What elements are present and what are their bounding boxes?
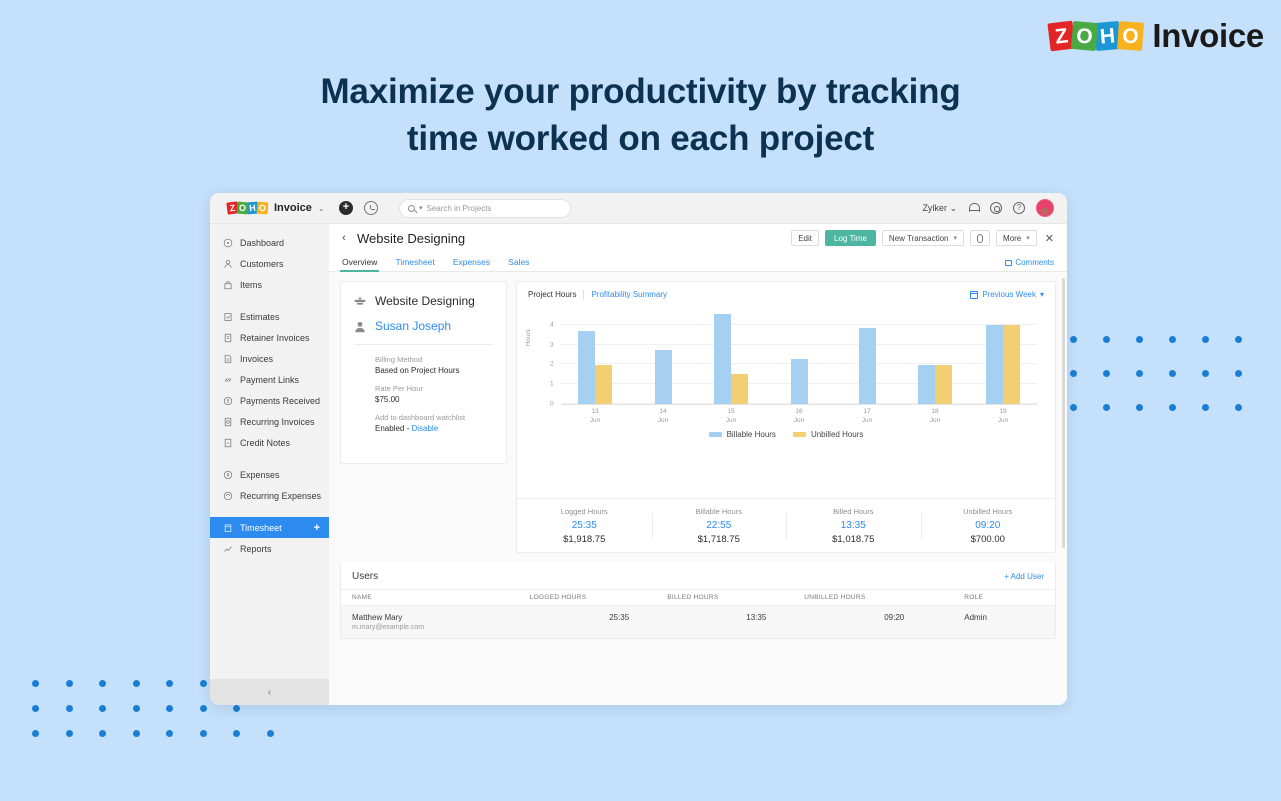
sidebar-item-items[interactable]: Items (210, 274, 329, 295)
decorative-dot (233, 730, 240, 737)
users-column-header[interactable]: ROLE (942, 590, 1055, 606)
field-rate-per-hour: Rate Per Hour $75.00 (354, 384, 493, 404)
decorative-dot (32, 680, 39, 687)
app-logo-word: Invoice (274, 202, 312, 214)
chart-bars-plot: 01234 (561, 313, 1037, 405)
users-table-header-row: NAMELOGGED HOURSBILLED HOURSUNBILLED HOU… (341, 590, 1055, 606)
chart-y-tick: 3 (550, 341, 554, 348)
field-dashboard-watchlist: Add to dashboard watchlist Enabled - Dis… (354, 413, 493, 433)
sidebar: DashboardCustomersItemsEstimatesRetainer… (210, 224, 329, 705)
watchlist-state: Enabled - (375, 424, 411, 433)
more-label: More (1003, 234, 1021, 243)
chart-x-tick: 15Jun (697, 408, 765, 426)
chart-x-tick-day: 16 (795, 408, 802, 415)
logo-tile-o1: O (1071, 21, 1098, 51)
chart-bar-group (561, 313, 629, 404)
chart-bar-group (629, 313, 697, 404)
customers-icon (223, 259, 233, 269)
main-panel: ‹ Website Designing Edit Log Time New Tr… (329, 224, 1067, 705)
help-icon[interactable]: ? (1013, 202, 1025, 214)
decorative-dot (99, 705, 106, 712)
sidebar-item-label: Recurring Expenses (240, 491, 321, 501)
tab-expenses[interactable]: Expenses (453, 257, 490, 271)
sidebar-group-gap (210, 506, 329, 517)
decorative-dot (66, 705, 73, 712)
chart-bar-billable (986, 325, 1003, 404)
chart-y-tick: 2 (550, 361, 554, 368)
gear-icon[interactable] (990, 202, 1002, 214)
sidebar-item-label: Customers (240, 259, 284, 269)
field-label: Add to dashboard watchlist (375, 413, 493, 422)
stat-amount: $1,918.75 (517, 534, 652, 545)
payments-received-icon (223, 396, 233, 406)
chart-x-tick-day: 13 (591, 408, 598, 415)
chart-plot-area: Hours 01234 13Jun14Jun15Jun16Jun17Jun18J… (517, 299, 1055, 498)
stat-hours: 22:55 (652, 520, 787, 531)
decorative-dot (133, 680, 140, 687)
chart-legend-item[interactable]: Billable Hours (709, 430, 776, 439)
decorative-dot (267, 730, 274, 737)
decorative-dot (32, 705, 39, 712)
chart-y-tick: 1 (550, 381, 554, 388)
chart-x-tick: 13Jun (561, 408, 629, 426)
decorative-dot (200, 730, 207, 737)
chart-bar-group (697, 313, 765, 404)
decorative-dot (166, 680, 173, 687)
stat-amount: $1,718.75 (652, 534, 787, 545)
sidebar-item-label: Credit Notes (240, 438, 290, 448)
decorative-dot (1070, 370, 1077, 377)
add-user-button[interactable]: + Add User (1004, 572, 1044, 581)
decorative-dot (200, 705, 207, 712)
chart-bar-unbilled (1003, 325, 1020, 404)
sidebar-item-label: Dashboard (240, 238, 284, 248)
decorative-dot (66, 730, 73, 737)
decorative-dot (1169, 370, 1176, 377)
chart-x-tick-month: Jun (794, 417, 804, 424)
credit-notes-icon (223, 438, 233, 448)
invoices-icon (223, 354, 233, 364)
sidebar-item-label: Estimates (240, 312, 280, 322)
sidebar-item-estimates[interactable]: Estimates (210, 306, 329, 327)
sidebar-collapse-button[interactable]: ‹ (210, 679, 329, 705)
chart-x-tick-month: Jun (862, 417, 872, 424)
chart-x-tick-day: 19 (999, 408, 1006, 415)
users-column-header[interactable]: BILLED HOURS (667, 590, 804, 606)
sidebar-group-gap (210, 295, 329, 306)
chart-x-tick-day: 18 (931, 408, 938, 415)
zoho-invoice-logo: Z O H O Invoice (1049, 17, 1264, 55)
sidebar-item-label: Reports (240, 544, 272, 554)
chart-y-tick: 4 (550, 321, 554, 328)
chart-x-tick: 19Jun (969, 408, 1037, 426)
chart-bar-unbilled (595, 365, 612, 404)
customer-name-link[interactable]: Susan Joseph (375, 319, 451, 333)
avatar[interactable] (1036, 199, 1054, 217)
users-column-header[interactable]: NAME (341, 590, 530, 606)
chart-x-tick-day: 14 (659, 408, 666, 415)
overview-content: Website Designing Susan Joseph Billing (329, 272, 1067, 705)
chart-x-tick-day: 17 (863, 408, 870, 415)
decorative-dot (1103, 404, 1110, 411)
stat-logged-hours: Logged Hours25:35$1,918.75 (517, 507, 652, 545)
decorative-dot (1202, 370, 1209, 377)
stat-hours: 09:20 (921, 520, 1056, 531)
stat-label: Logged Hours (517, 507, 652, 516)
chart-x-tick: 17Jun (833, 408, 901, 426)
person-icon (354, 320, 366, 333)
decorative-dot (133, 705, 140, 712)
chart-y-tick: 0 (550, 401, 554, 408)
sidebar-item-invoices[interactable]: Invoices (210, 348, 329, 369)
comments-link[interactable]: Comments (1005, 258, 1054, 271)
brand-product-name: Invoice (1152, 17, 1264, 55)
headline-line-1: Maximize your productivity by tracking (320, 72, 960, 111)
stat-amount: $1,018.75 (786, 534, 921, 545)
chart-x-axis-labels: 13Jun14Jun15Jun16Jun17Jun18Jun19Jun (561, 408, 1037, 426)
sidebar-item-reports[interactable]: Reports (210, 538, 329, 559)
decorative-dot (1202, 404, 1209, 411)
estimates-icon (223, 312, 233, 322)
users-header: Users + Add User (341, 562, 1055, 589)
app-body: DashboardCustomersItemsEstimatesRetainer… (210, 224, 1067, 705)
decorative-dot (1169, 404, 1176, 411)
chart-bar-unbilled (731, 374, 748, 404)
chevron-down-icon: ▾ (1026, 234, 1030, 242)
logo-tile-o2: O (1117, 21, 1144, 51)
legend-label: Unbilled Hours (811, 430, 863, 439)
sidebar-item-label: Recurring Invoices (240, 417, 315, 427)
poster-canvas: Z O H O Invoice Maximize your productivi… (0, 0, 1281, 801)
recurring-expenses-icon (223, 491, 233, 501)
detail-header: ‹ Website Designing Edit Log Time New Tr… (329, 224, 1067, 252)
chart-bar-billable (918, 365, 935, 404)
sidebar-item-recurring-invoices[interactable]: Recurring Invoices (210, 411, 329, 432)
stat-label: Unbilled Hours (921, 507, 1056, 516)
chart-bar-billable (859, 328, 876, 404)
chart-x-tick: 14Jun (629, 408, 697, 426)
stat-label: Billed Hours (786, 507, 921, 516)
project-name: Website Designing (375, 294, 475, 308)
chart-bar-groups (561, 313, 1037, 404)
decorative-dot (1136, 404, 1143, 411)
search-placeholder: Search in Projects (427, 204, 492, 213)
detail-tabs: OverviewTimesheetExpensesSales Comments (329, 252, 1067, 272)
sidebar-item-label: Expenses (240, 470, 280, 480)
headline-line-2: time worked on each project (0, 115, 1281, 162)
scrollbar[interactable] (1062, 278, 1065, 548)
decorative-dot (1169, 336, 1176, 343)
project-hours-chart-card: Project Hours Profitability Summary Prev… (516, 281, 1056, 553)
search-icon (408, 205, 415, 212)
payment-links-icon (223, 375, 233, 385)
chart-tab-project-hours[interactable]: Project Hours (528, 290, 576, 299)
sidebar-item-retainer-invoices[interactable]: Retainer Invoices (210, 327, 329, 348)
page-title: Website Designing (357, 231, 465, 246)
field-label: Rate Per Hour (375, 384, 493, 393)
detail-header-buttons: Edit Log Time New Transaction ▾ More ▾ ✕ (791, 230, 1054, 246)
divider (354, 344, 493, 345)
field-label: Billing Method (375, 355, 493, 364)
week-selector[interactable]: Previous Week ▾ (970, 290, 1044, 299)
comments-label: Comments (1015, 258, 1054, 267)
project-name-row: Website Designing (354, 294, 493, 308)
chevron-down-icon: ▾ (1040, 290, 1044, 299)
timesheet-icon (223, 523, 233, 533)
tab-sales[interactable]: Sales (508, 257, 529, 271)
users-column-header[interactable]: UNBILLED HOURS (804, 590, 942, 606)
stat-unbilled-hours: Unbilled Hours09:20$700.00 (921, 507, 1056, 545)
log-time-button[interactable]: Log Time (825, 230, 876, 246)
stat-hours: 25:35 (517, 520, 652, 531)
retainer-invoices-icon (223, 333, 233, 343)
search-input[interactable]: ▾ Search in Projects (399, 199, 571, 218)
chart-x-tick-month: Jun (590, 417, 600, 424)
plus-circle-icon[interactable]: + (339, 201, 353, 215)
decorative-dot (1235, 336, 1242, 343)
app-logo-tiles: Z O H O (227, 202, 268, 214)
chart-bar-billable (791, 359, 808, 405)
project-info-card: Website Designing Susan Joseph Billing (340, 281, 507, 464)
chart-header: Project Hours Profitability Summary Prev… (517, 282, 1055, 299)
decorative-dot (166, 730, 173, 737)
zoho-logo-tiles: Z O H O (1049, 22, 1143, 50)
chevron-down-icon: ▾ (954, 234, 958, 242)
decorative-dot (1136, 370, 1143, 377)
close-icon[interactable]: ✕ (1045, 232, 1054, 245)
chart-y-axis-label: Hours (526, 329, 532, 346)
decorative-dot (32, 730, 39, 737)
sidebar-item-timesheet[interactable]: Timesheet+ (210, 517, 329, 538)
sidebar-item-label: Retainer Invoices (240, 333, 310, 343)
decorative-dot (99, 730, 106, 737)
users-title: Users (352, 571, 378, 582)
chart-x-tick-month: Jun (930, 417, 940, 424)
table-row[interactable]: Matthew Marym.mary@example.com25:3513:35… (341, 606, 1055, 639)
stat-billable-hours: Billable Hours22:55$1,718.75 (652, 507, 787, 545)
week-selector-label: Previous Week (982, 290, 1036, 299)
sidebar-nav-list: DashboardCustomersItemsEstimatesRetainer… (210, 224, 329, 679)
field-value: Based on Project Hours (375, 366, 493, 375)
users-table: NAMELOGGED HOURSBILLED HOURSUNBILLED HOU… (341, 589, 1055, 638)
chart-bar-billable (578, 331, 595, 404)
sidebar-item-payment-links[interactable]: Payment Links (210, 369, 329, 390)
decorative-dot (1202, 336, 1209, 343)
topbar-right: Zylker ⌄ ? (922, 199, 1067, 217)
chart-x-tick-month: Jun (998, 417, 1008, 424)
project-customer-row: Susan Joseph (354, 319, 493, 333)
sidebar-group-gap (210, 453, 329, 464)
app-window-screenshot: Z O H O Invoice ⌄ + ▾ Search in Projects (210, 193, 1067, 705)
dashboard-icon (223, 238, 233, 248)
stat-hours: 13:35 (786, 520, 921, 531)
reports-icon (223, 544, 233, 554)
divider (583, 290, 584, 299)
decorative-dot (1103, 336, 1110, 343)
legend-swatch (709, 432, 722, 437)
chart-legend-item[interactable]: Unbilled Hours (793, 430, 863, 439)
items-icon (223, 280, 233, 290)
chart-bar-group (833, 313, 901, 404)
sidebar-item-dashboard[interactable]: Dashboard (210, 232, 329, 253)
decorative-dot (200, 680, 207, 687)
app-topbar: Z O H O Invoice ⌄ + ▾ Search in Projects (210, 193, 1067, 224)
sidebar-item-label: Invoices (240, 354, 273, 364)
more-button[interactable]: More ▾ (996, 230, 1037, 246)
chart-x-tick-day: 15 (727, 408, 734, 415)
field-billing-method: Billing Method Based on Project Hours (354, 355, 493, 375)
search-scope-caret-icon[interactable]: ▾ (419, 204, 423, 212)
chart-x-tick-month: Jun (658, 417, 668, 424)
back-icon[interactable]: ‹ (338, 232, 350, 244)
decorative-dot (1235, 404, 1242, 411)
legend-swatch (793, 432, 806, 437)
new-transaction-label: New Transaction (889, 234, 949, 243)
sidebar-item-label: Timesheet (240, 523, 282, 533)
decorative-dot (233, 705, 240, 712)
chart-bar-group (901, 313, 969, 404)
clock-history-icon[interactable] (364, 201, 378, 215)
chart-bar-unbilled (935, 365, 952, 404)
chart-bar-group (969, 313, 1037, 404)
sidebar-item-label: Items (240, 280, 262, 290)
attachment-button[interactable] (970, 230, 990, 246)
decorative-dot (133, 730, 140, 737)
users-table-body: Matthew Marym.mary@example.com25:3513:35… (341, 606, 1055, 639)
sidebar-item-customers[interactable]: Customers (210, 253, 329, 274)
decorative-dot (1136, 336, 1143, 343)
chart-bar-group (765, 313, 833, 404)
sidebar-item-expenses[interactable]: Expenses (210, 464, 329, 485)
sidebar-item-payments-received[interactable]: Payments Received (210, 390, 329, 411)
app-logo-tile-o1: O (236, 202, 248, 215)
user-unbilled-hours: 09:20 (804, 606, 942, 639)
stat-label: Billable Hours (652, 507, 787, 516)
bell-icon[interactable] (968, 202, 979, 214)
sidebar-item-credit-notes[interactable]: Credit Notes (210, 432, 329, 453)
chart-bar-billable (655, 350, 672, 404)
sidebar-item-recurring-expenses[interactable]: Recurring Expenses (210, 485, 329, 506)
user-email: m.mary@example.com (352, 624, 530, 631)
decorative-dot (166, 705, 173, 712)
sidebar-add-timesheet-icon[interactable]: + (314, 522, 320, 534)
overview-cards: Website Designing Susan Joseph Billing (340, 281, 1056, 553)
expenses-icon (223, 470, 233, 480)
chevron-down-icon[interactable]: ⌄ (318, 204, 325, 213)
chart-tab-profitability-summary[interactable]: Profitability Summary (591, 290, 667, 299)
project-icon (354, 295, 366, 307)
user-name-cell: Matthew Marym.mary@example.com (341, 606, 530, 639)
new-transaction-button[interactable]: New Transaction ▾ (882, 230, 964, 246)
tab-timesheet[interactable]: Timesheet (395, 257, 434, 271)
chart-legend: Billable HoursUnbilled Hours (535, 426, 1037, 447)
edit-button[interactable]: Edit (791, 230, 819, 246)
sidebar-item-label: Payment Links (240, 375, 299, 385)
chart-bar-billable (714, 314, 731, 404)
decorative-dot (1103, 370, 1110, 377)
stat-amount: $700.00 (921, 534, 1056, 545)
decorative-dot (1070, 336, 1077, 343)
user-billed-hours: 13:35 (667, 606, 804, 639)
sidebar-item-label: Payments Received (240, 396, 320, 406)
users-section: Users + Add User NAMELOGGED HOURSBILLED … (340, 562, 1056, 639)
decorative-dots-right (1070, 336, 1270, 416)
user-role: Admin (942, 606, 1055, 639)
user-logged-hours: 25:35 (530, 606, 668, 639)
hours-summary-stats: Logged Hours25:35$1,918.75Billable Hours… (517, 498, 1055, 552)
page-headline: Maximize your productivity by tracking t… (0, 68, 1281, 163)
decorative-dot (1235, 370, 1242, 377)
users-column-header[interactable]: LOGGED HOURS (530, 590, 668, 606)
attachment-icon (977, 234, 983, 243)
tab-overview[interactable]: Overview (342, 257, 377, 271)
user-name: Matthew Mary (352, 613, 530, 622)
field-value: Enabled - Disable (375, 424, 493, 433)
chart-x-tick-month: Jun (726, 417, 736, 424)
org-switcher[interactable]: Zylker ⌄ (922, 203, 957, 214)
watchlist-disable-link[interactable]: Disable (411, 424, 438, 433)
app-logo-tile-o2: O (257, 202, 269, 215)
topbar-actions: + ▾ Search in Projects (329, 199, 571, 218)
decorative-dot (99, 680, 106, 687)
app-logo[interactable]: Z O H O Invoice ⌄ (210, 202, 329, 214)
field-value: $75.00 (375, 395, 493, 404)
comment-icon (1005, 260, 1012, 266)
recurring-invoices-icon (223, 417, 233, 427)
chart-x-tick: 18Jun (901, 408, 969, 426)
decorative-dot (66, 680, 73, 687)
calendar-icon (970, 291, 978, 299)
legend-label: Billable Hours (727, 430, 776, 439)
chart-x-tick: 16Jun (765, 408, 833, 426)
decorative-dot (1070, 404, 1077, 411)
stat-billed-hours: Billed Hours13:35$1,018.75 (786, 507, 921, 545)
